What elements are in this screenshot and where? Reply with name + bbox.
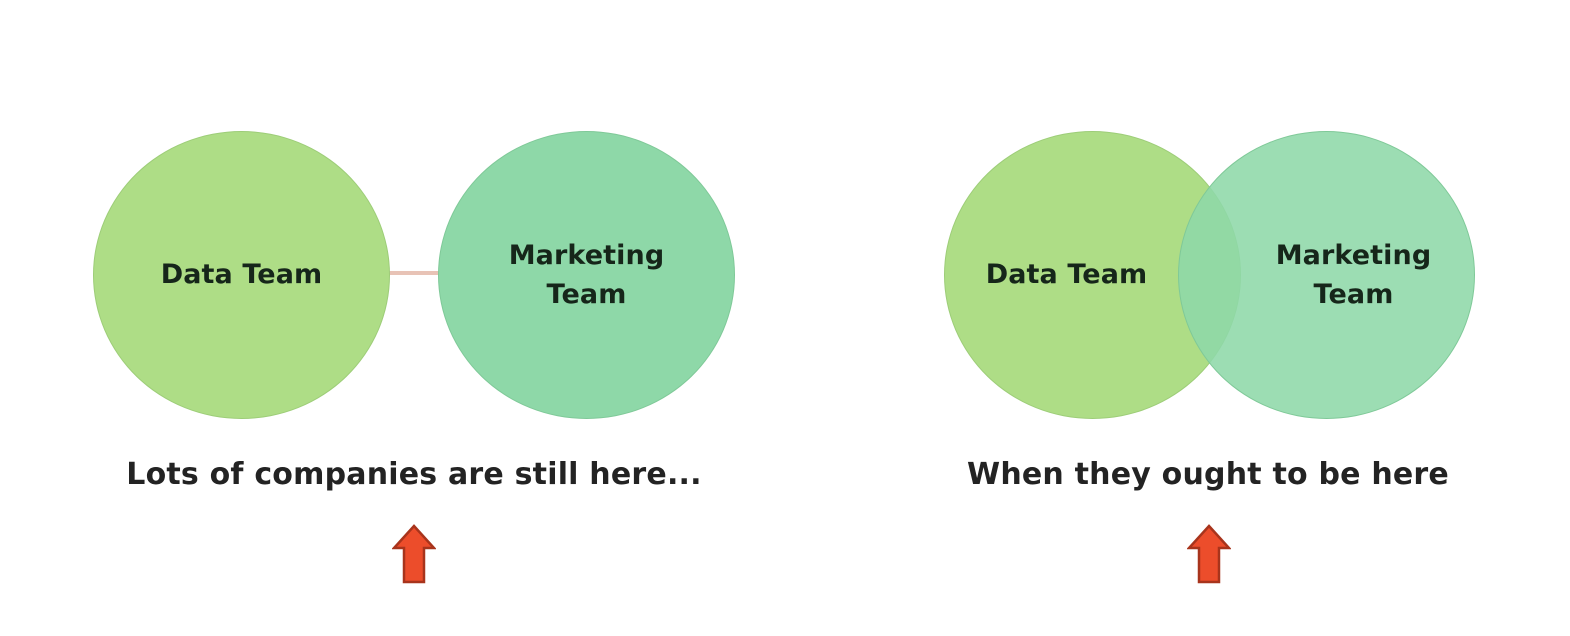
diagram-canvas: Data Team Marketing Team Lots of compani… xyxy=(0,0,1570,636)
caption-overlapping: When they ought to be here xyxy=(828,457,1570,492)
circle-label-data-team: Data Team xyxy=(986,255,1148,294)
up-arrow-icon-overlapping xyxy=(1187,524,1231,584)
panel-separated: Data Team Marketing Team Lots of compani… xyxy=(0,0,828,636)
caption-separated: Lots of companies are still here... xyxy=(0,457,828,492)
circle-data-team-separated[interactable]: Data Team xyxy=(93,131,390,419)
circle-label-marketing-team: Marketing Team xyxy=(509,236,665,314)
circle-label-marketing-team: Marketing Team xyxy=(1276,236,1432,314)
circle-label-data-team: Data Team xyxy=(161,255,323,294)
connector-line xyxy=(389,271,439,275)
circle-marketing-team-overlapping[interactable]: Marketing Team xyxy=(1178,131,1475,419)
up-arrow-icon-separated xyxy=(392,524,436,584)
circle-marketing-team-separated[interactable]: Marketing Team xyxy=(438,131,735,419)
